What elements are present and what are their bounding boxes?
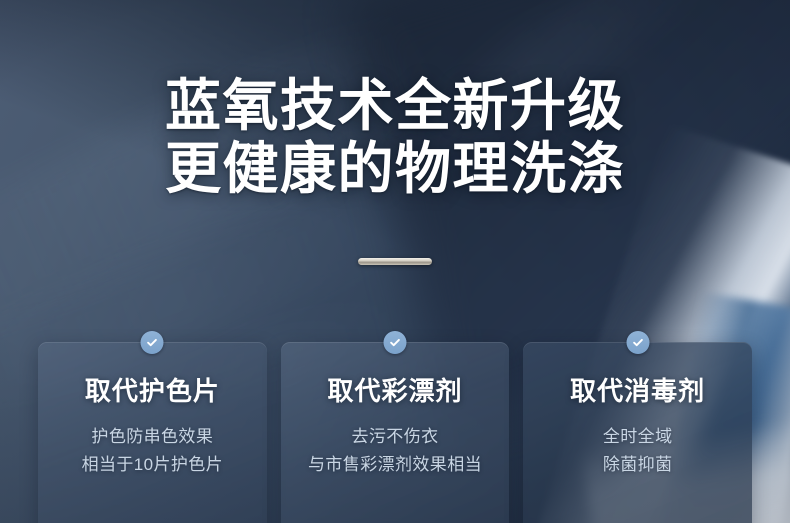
card-title: 取代彩漂剂 [281, 376, 510, 407]
feature-card: 取代消毒剂 全时全域 除菌抑菌 [523, 342, 752, 523]
card-title: 取代消毒剂 [523, 376, 752, 407]
promo-banner: 蓝氧技术全新升级 更健康的物理洗涤 取代护色片 护色防串色效果 相当于10片护色… [0, 0, 790, 523]
divider-container [0, 258, 790, 265]
feature-card-list: 取代护色片 护色防串色效果 相当于10片护色片 取代彩漂剂 去污不伤衣 与市售彩… [38, 342, 752, 523]
check-circle-icon [384, 331, 407, 354]
check-circle-icon [141, 331, 164, 354]
card-subtitle: 护色防串色效果 相当于10片护色片 [38, 423, 267, 478]
headline-line-1: 蓝氧技术全新升级 [0, 74, 790, 137]
card-subtitle-line: 相当于10片护色片 [38, 451, 267, 479]
feature-card: 取代护色片 护色防串色效果 相当于10片护色片 [38, 342, 267, 523]
card-subtitle: 全时全域 除菌抑菌 [523, 423, 752, 478]
headline: 蓝氧技术全新升级 更健康的物理洗涤 [0, 74, 790, 201]
card-subtitle-line: 与市售彩漂剂效果相当 [281, 451, 510, 479]
card-subtitle-line: 除菌抑菌 [523, 451, 752, 479]
card-title: 取代护色片 [38, 376, 267, 407]
card-subtitle-line: 护色防串色效果 [38, 423, 267, 451]
card-subtitle-line: 全时全域 [523, 423, 752, 451]
card-subtitle: 去污不伤衣 与市售彩漂剂效果相当 [281, 423, 510, 478]
headline-line-2: 更健康的物理洗涤 [0, 137, 790, 200]
metallic-divider-bar [358, 258, 432, 265]
feature-card: 取代彩漂剂 去污不伤衣 与市售彩漂剂效果相当 [281, 342, 510, 523]
card-subtitle-line: 去污不伤衣 [281, 423, 510, 451]
check-circle-icon [626, 331, 649, 354]
